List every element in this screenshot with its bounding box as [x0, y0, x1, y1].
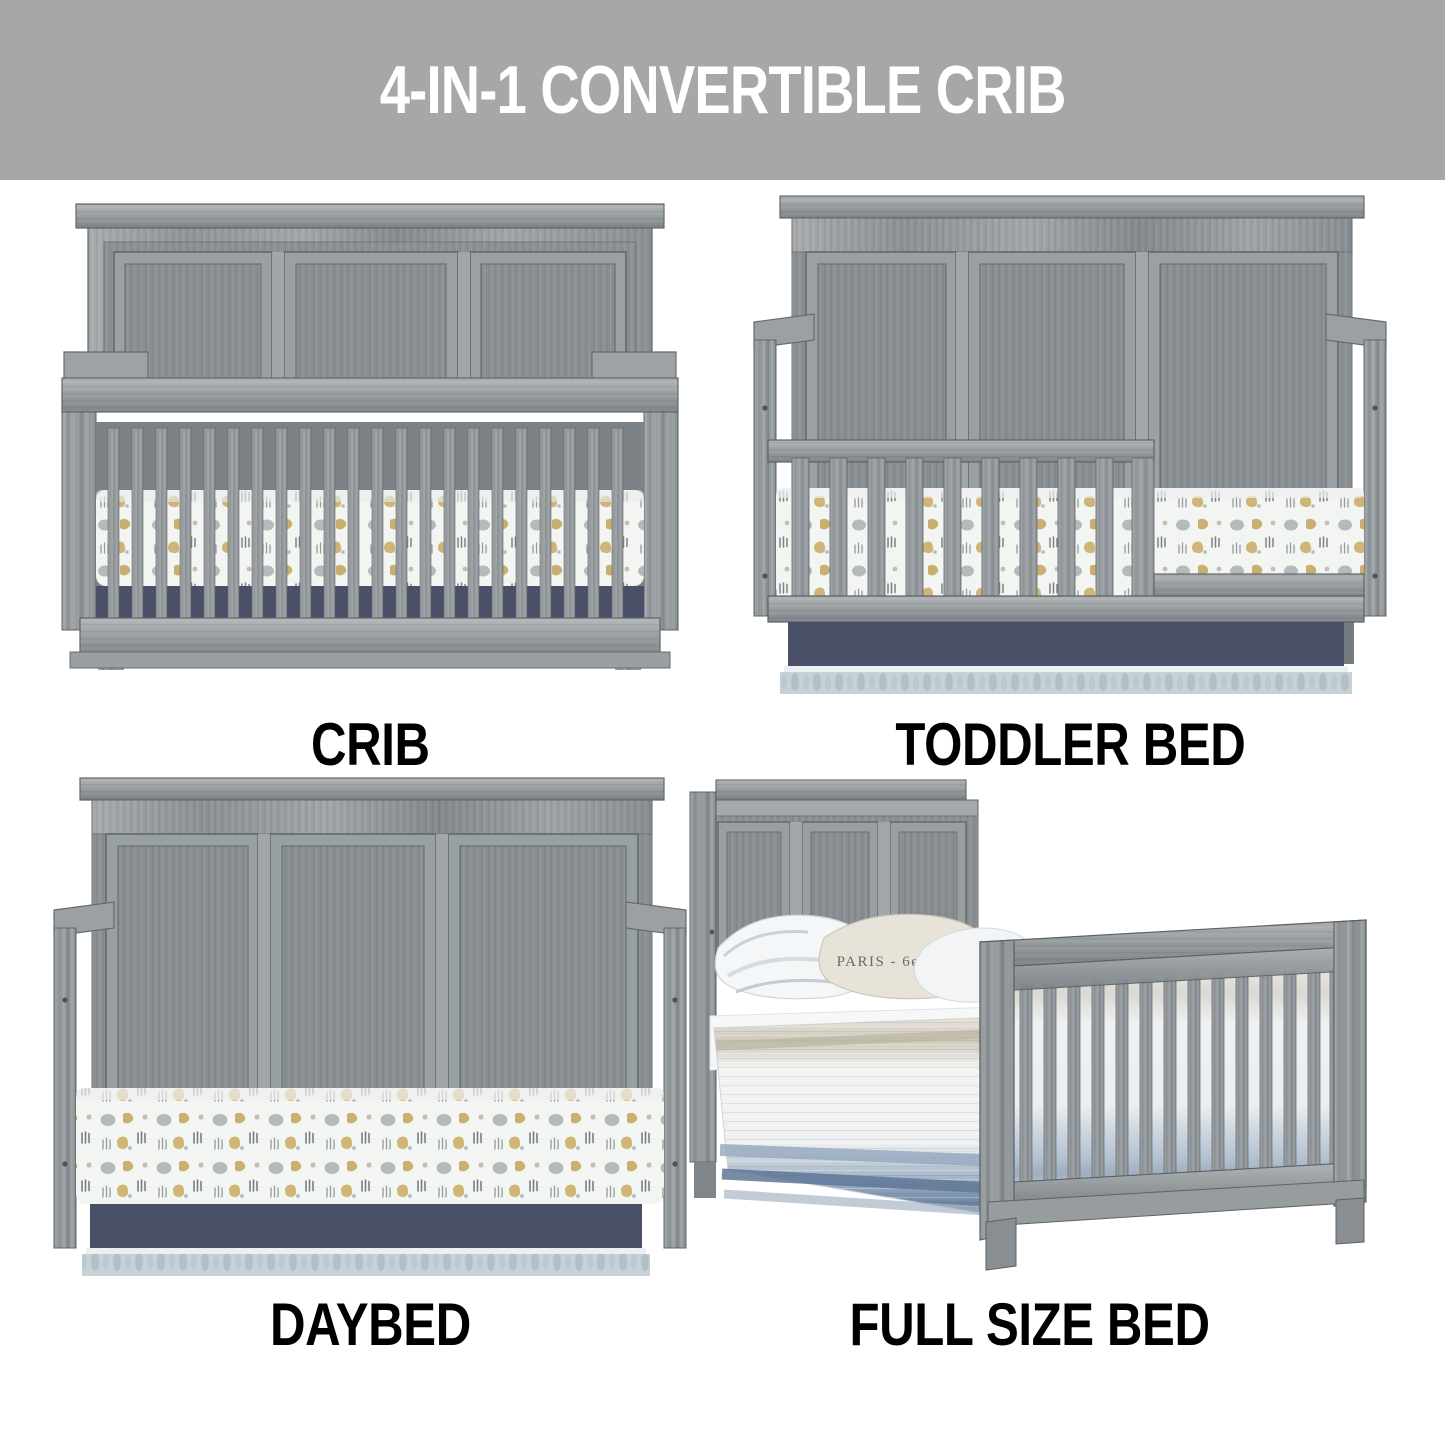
daybed-headboard — [80, 778, 664, 1092]
caption-full-size-bed: FULL SIZE BED — [680, 1295, 1380, 1355]
crib-illustration — [40, 190, 700, 697]
toddler-bed-illustration — [740, 190, 1400, 697]
daybed-mattress — [76, 1088, 664, 1204]
product-cell-toddler-bed[interactable]: TODDLER BED — [740, 190, 1400, 775]
crib-lower-front-rail — [70, 618, 670, 668]
page-title: 4-IN-1 CONVERTIBLE CRIB — [380, 56, 1066, 124]
full-bed-rear-leg — [694, 1162, 716, 1198]
daybed-bed-skirt — [82, 1204, 650, 1276]
daybed-image — [40, 770, 700, 1277]
caption-toddler-bed: TODDLER BED — [740, 715, 1400, 775]
toddler-panel-right — [1148, 252, 1338, 490]
crib-headboard — [76, 204, 664, 390]
daybed-illustration — [40, 770, 700, 1277]
full-bed-footboard — [980, 920, 1366, 1270]
crib-mattress — [96, 490, 644, 586]
infographic-page: 4-IN-1 CONVERTIBLE CRIB — [0, 0, 1445, 1445]
toddler-bed-skirt — [780, 622, 1352, 694]
product-grid: CRIB — [0, 180, 1445, 1445]
product-cell-full-size-bed[interactable]: PARIS - 6e ar ​ — [680, 770, 1380, 1355]
product-cell-daybed[interactable]: DAYBED — [40, 770, 700, 1355]
header-banner: 4-IN-1 CONVERTIBLE CRIB — [0, 0, 1445, 180]
full-size-bed-image: PARIS - 6e ar ​ — [680, 770, 1380, 1277]
caption-daybed: DAYBED — [40, 1295, 700, 1355]
crib-panel-center — [284, 252, 458, 390]
toddler-bed-image — [740, 190, 1400, 697]
full-size-bed-illustration: PARIS - 6e ar ​ — [680, 770, 1380, 1277]
crib-image — [40, 190, 700, 697]
caption-crib: CRIB — [40, 715, 700, 775]
daybed-panel-left — [106, 834, 258, 1092]
product-cell-crib[interactable]: CRIB — [40, 190, 700, 775]
daybed-panel-right — [448, 834, 638, 1092]
crib-upper-front-rail — [62, 378, 678, 412]
daybed-panel-center — [270, 834, 436, 1092]
